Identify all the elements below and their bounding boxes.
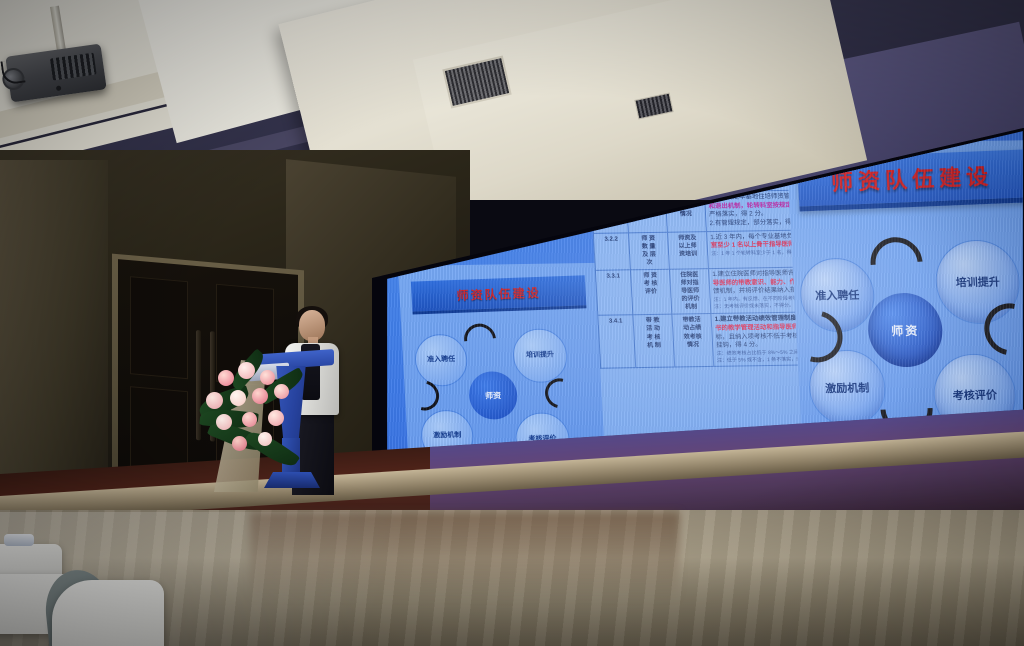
node-center-faculty[interactable]: 师资 — [866, 292, 944, 367]
water-cup[interactable] — [4, 534, 34, 546]
faculty-cycle-diagram: 准入聘任 培训提升 师资 激励机制 考核评价 — [791, 229, 1024, 443]
door-panel — [130, 276, 188, 379]
row-number: 3.3.1 — [595, 270, 632, 316]
audience-chairs — [0, 540, 220, 646]
cat-line: 次 — [632, 259, 666, 268]
mini-node-admission: 准入聘任 — [414, 334, 469, 387]
mini-node-training: 培训提升 — [512, 328, 569, 383]
chair-armrest[interactable] — [52, 580, 164, 646]
mini-node-center: 师资 — [468, 371, 519, 420]
rose — [216, 414, 232, 430]
subcat-line: 机制 — [674, 303, 708, 312]
rose — [232, 436, 247, 451]
rose — [218, 370, 234, 386]
rose — [230, 390, 246, 406]
rose — [268, 410, 284, 426]
rose — [274, 384, 289, 399]
row-number: 3.4.1 — [598, 315, 636, 369]
mini-banner-title: 师资队伍建设 — [456, 283, 541, 303]
row-subcategory: 住院医 师对指 导医师 的评价 机制 — [669, 268, 710, 314]
projector-status-led — [56, 85, 62, 91]
faculty-diagram-pane[interactable]: 师资队伍建设 准入聘任 培训提升 师资 激励机制 考核评价 — [786, 140, 1024, 453]
rose — [238, 362, 255, 379]
flower-arrangement — [198, 348, 314, 476]
projector-vent-grill — [50, 53, 97, 81]
mini-banner: 师资队伍建设 — [411, 275, 587, 314]
rose — [242, 412, 257, 427]
rose — [260, 370, 275, 385]
conference-hall-scene: 师资队伍建设 准入聘任 培训提升 师资 激励机制 考核评价 1.科学制定本基地住… — [0, 0, 1024, 646]
cat-line: 管理规 — [629, 203, 663, 212]
subcat-line: 情况 — [676, 341, 710, 350]
rose — [252, 388, 268, 404]
row-number: 3.2.2 — [593, 232, 630, 270]
row-category: 师 资 考 核 评价 — [630, 269, 671, 315]
cat-line: 评价 — [634, 288, 668, 297]
row-category: 师 资 数 量 及 层 次 — [628, 232, 669, 270]
row-category: 带 教 活 动 考 核 机 制 — [633, 315, 675, 369]
rose — [258, 432, 272, 446]
row-subcategory: 带教活 动占绩 效考核 情况 — [672, 314, 714, 368]
row-subcategory: 师资及 以上师 资培训 — [667, 231, 708, 269]
subcat-line: 资培训 — [671, 250, 705, 259]
cat-line: 机 制 — [637, 341, 671, 350]
rose — [206, 392, 223, 409]
